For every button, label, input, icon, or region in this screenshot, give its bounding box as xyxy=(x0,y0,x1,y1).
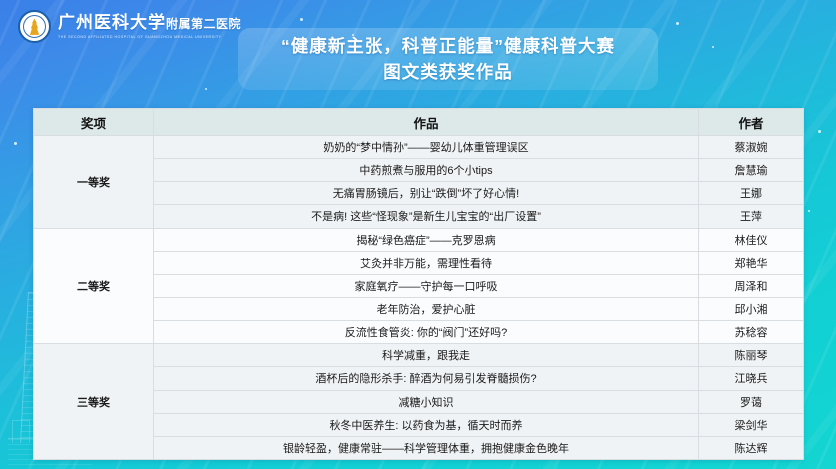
table-row: 二等奖揭秘“绿色癌症”——克罗恩病林佳仪 xyxy=(34,228,804,251)
sparkle-dot xyxy=(818,130,821,133)
author-name-cell: 詹慧瑜 xyxy=(699,159,804,182)
column-header-author: 作者 xyxy=(699,109,804,136)
work-title-cell: 酒杯后的隐形杀手: 醉酒为何易引发脊髓损伤? xyxy=(154,367,699,390)
work-title-cell: 中药煎煮与服用的6个小tips xyxy=(154,159,699,182)
awards-table-head: 奖项 作品 作者 xyxy=(34,109,804,136)
award-grade-cell: 三等奖 xyxy=(34,344,154,460)
work-title-cell: 反流性食管炎: 你的“阀门”还好吗? xyxy=(154,321,699,344)
hospital-logo-text: 广州医科大学附属第二医院 THE SECOND AFFILIATED HOSPI… xyxy=(58,13,241,40)
work-title-cell: 家庭氧疗——守护每一口呼吸 xyxy=(154,274,699,297)
award-grade-cell: 二等奖 xyxy=(34,228,154,344)
author-name-cell: 陈丽琴 xyxy=(699,344,804,367)
building-annex-shape xyxy=(12,420,30,443)
awards-table-container: 奖项 作品 作者 一等奖奶奶的“梦中情孙”——婴幼儿体重管理误区蔡淑婉中药煎煮与… xyxy=(33,108,803,460)
work-title-cell: 揭秘“绿色癌症”——克罗恩病 xyxy=(154,228,699,251)
author-name-cell: 罗蔼 xyxy=(699,390,804,413)
work-title-cell: 无痛胃肠镜后，别让“跌倒”坏了好心情! xyxy=(154,182,699,205)
table-row: 一等奖奶奶的“梦中情孙”——婴幼儿体重管理误区蔡淑婉 xyxy=(34,136,804,159)
work-title-cell: 老年防治，爱护心脏 xyxy=(154,297,699,320)
hospital-name-cn: 广州医科大学附属第二医院 xyxy=(58,13,241,34)
author-name-cell: 周泽和 xyxy=(699,274,804,297)
author-name-cell: 邱小湘 xyxy=(699,297,804,320)
sparkle-dot xyxy=(14,142,17,145)
page-title-line-1: “健康新主张，科普正能量”健康科普大赛 xyxy=(281,34,615,58)
slide-canvas: 广州医科大学附属第二医院 THE SECOND AFFILIATED HOSPI… xyxy=(0,0,836,469)
slide-header: 广州医科大学附属第二医院 THE SECOND AFFILIATED HOSPI… xyxy=(0,0,836,106)
award-grade-cell: 一等奖 xyxy=(34,136,154,229)
crest-tower-glyph xyxy=(29,19,40,36)
page-title-line-2: 图文类获奖作品 xyxy=(383,60,513,84)
awards-table: 奖项 作品 作者 一等奖奶奶的“梦中情孙”——婴幼儿体重管理误区蔡淑婉中药煎煮与… xyxy=(33,108,804,460)
author-name-cell: 苏稔容 xyxy=(699,321,804,344)
work-title-cell: 奶奶的“梦中情孙”——婴幼儿体重管理误区 xyxy=(154,136,699,159)
author-name-cell: 陈达辉 xyxy=(699,436,804,459)
work-title-cell: 秋冬中医养生: 以药食为基，循天时而养 xyxy=(154,413,699,436)
work-title-cell: 不是病! 这些“怪现象”是新生儿宝宝的“出厂设置” xyxy=(154,205,699,228)
hospital-crest-icon xyxy=(18,10,51,43)
column-header-work: 作品 xyxy=(154,109,699,136)
work-title-cell: 科学减重，跟我走 xyxy=(154,344,699,367)
author-name-cell: 林佳仪 xyxy=(699,228,804,251)
sparkle-dot xyxy=(808,210,810,212)
hospital-name-cn-main: 广州医科大学 xyxy=(58,13,166,32)
table-row: 三等奖科学减重，跟我走陈丽琴 xyxy=(34,344,804,367)
author-name-cell: 梁剑华 xyxy=(699,413,804,436)
author-name-cell: 蔡淑婉 xyxy=(699,136,804,159)
author-name-cell: 王萍 xyxy=(699,205,804,228)
hospital-name-cn-sub: 附属第二医院 xyxy=(166,17,241,31)
table-header-row: 奖项 作品 作者 xyxy=(34,109,804,136)
work-title-cell: 减糖小知识 xyxy=(154,390,699,413)
title-panel: “健康新主张，科普正能量”健康科普大赛 图文类获奖作品 xyxy=(238,28,658,90)
awards-table-body: 一等奖奶奶的“梦中情孙”——婴幼儿体重管理误区蔡淑婉中药煎煮与服用的6个小tip… xyxy=(34,136,804,460)
hospital-logo: 广州医科大学附属第二医院 THE SECOND AFFILIATED HOSPI… xyxy=(18,10,241,43)
author-name-cell: 江晓兵 xyxy=(699,367,804,390)
hospital-name-en: THE SECOND AFFILIATED HOSPITAL OF GUANGZ… xyxy=(58,34,241,40)
work-title-cell: 银龄轻盈，健康常驻——科学管理体重，拥抱健康金色晚年 xyxy=(154,436,699,459)
work-title-cell: 艾灸并非万能，需理性看待 xyxy=(154,251,699,274)
author-name-cell: 王娜 xyxy=(699,182,804,205)
author-name-cell: 郑艳华 xyxy=(699,251,804,274)
column-header-award: 奖项 xyxy=(34,109,154,136)
